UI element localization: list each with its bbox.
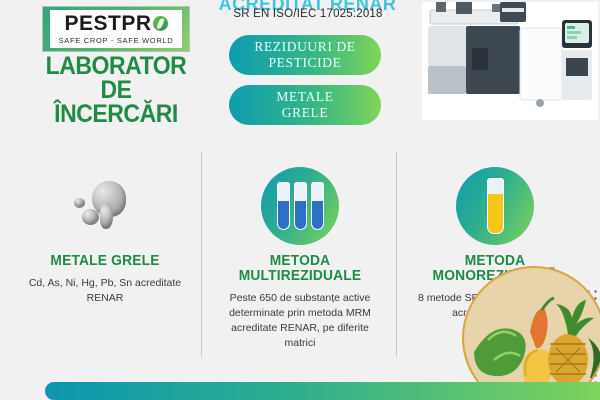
column-heading-line1: METALE GRELE: [15, 254, 196, 269]
lab-equipment-region: [415, 0, 600, 140]
column-divider: [396, 152, 397, 357]
gradient-bar: [45, 382, 600, 400]
column-heading: METODA MULTIREZIDUALE: [210, 254, 391, 284]
column-heading-line1: METODA: [405, 254, 586, 269]
logo-tagline: SAFE CROP - SAFE WORLD: [59, 36, 174, 45]
leaf-icon: [153, 16, 168, 31]
page-title: LABORATOR DE ÎNCERCĂRI: [33, 54, 199, 126]
single-test-tube-icon: [456, 167, 534, 245]
column-heading: METALE GRELE: [15, 254, 196, 269]
page-title-line1: LABORATOR DE: [33, 54, 199, 102]
column-heading-line2: MULTIREZIDUALE: [210, 269, 391, 284]
fruits-vegetables-photo-icon: [462, 266, 600, 400]
pill-line2: PESTICIDE: [269, 55, 342, 71]
pill-metale-grele[interactable]: METALE GRELE: [229, 85, 381, 125]
column-body: Cd, As, Ni, Hg, Pb, Sn acreditate RENAR: [10, 276, 200, 306]
page-title-line2: ÎNCERCĂRI: [33, 102, 199, 126]
icon-slot: [10, 160, 200, 252]
three-test-tubes-icon: [261, 167, 339, 245]
column-body: Peste 650 de substanțe active determinat…: [205, 291, 395, 351]
column-metoda-multireziduale: METODA MULTIREZIDUALE Peste 650 de subst…: [205, 160, 395, 351]
lab-instrument-photo-icon: [422, 2, 598, 120]
column-divider: [201, 152, 202, 357]
column-metale-grele: METALE GRELE Cd, As, Ni, Hg, Pb, Sn acre…: [10, 160, 200, 306]
pill-line1: REZIDUURI DE: [254, 39, 355, 55]
standard-label: SR EN ISO/IEC 17025:2018: [198, 8, 418, 20]
icon-slot: [205, 160, 395, 252]
poster-canvas: PESTPR SAFE CROP - SAFE WORLD LABORATOR …: [0, 0, 600, 400]
icon-slot: [400, 160, 590, 252]
pill-reziduuri-pesticide[interactable]: REZIDUURI DE PESTICIDE: [229, 35, 381, 75]
pill-line1: METALE: [276, 89, 333, 105]
logo-wordmark: PESTPR: [64, 13, 151, 34]
mercury-droplet-icon: [74, 177, 136, 235]
column-heading-line1: METODA: [210, 254, 391, 269]
pill-line2: GRELE: [282, 105, 329, 121]
pestpro-logo: PESTPR SAFE CROP - SAFE WORLD: [42, 6, 190, 52]
